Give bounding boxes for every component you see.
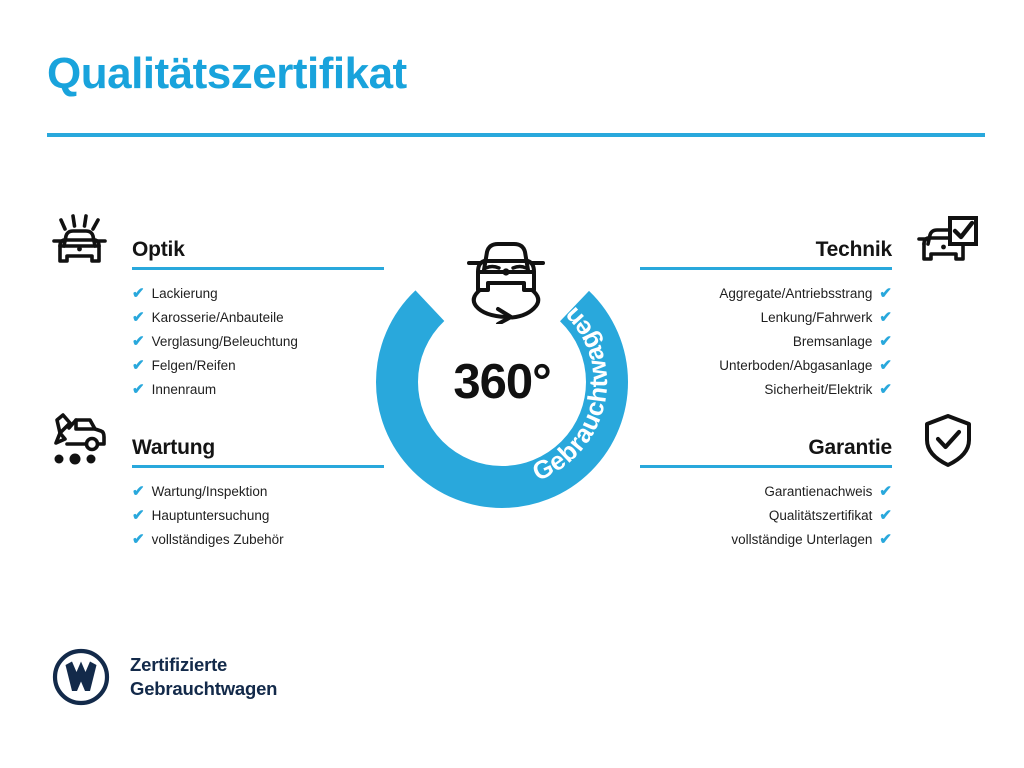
section-wartung-list: ✔Wartung/Inspektion ✔Hauptuntersuchung ✔… (44, 480, 384, 552)
check-icon: ✔ (132, 504, 145, 528)
list-item: ✔vollständiges Zubehör (44, 528, 384, 552)
list-item-label: Aggregate/Antriebsstrang (719, 282, 872, 306)
check-icon: ✔ (132, 330, 145, 354)
list-item-label: Hauptuntersuchung (152, 504, 270, 528)
list-item-label: Unterboden/Abgasanlage (719, 354, 872, 378)
section-garantie-list: Garantienachweis✔ Qualitätszertifikat✔ v… (640, 480, 984, 552)
list-item-label: Garantienachweis (764, 480, 872, 504)
check-icon: ✔ (879, 378, 892, 402)
section-technik-title: Technik (816, 238, 892, 262)
list-item: Bremsanlage✔ (640, 330, 984, 354)
check-icon: ✔ (132, 528, 145, 552)
section-wartung-header: Wartung (44, 406, 384, 468)
section-optik: Optik ✔Lackierung ✔Karosserie/Anbauteile… (44, 208, 384, 402)
check-icon: ✔ (879, 306, 892, 330)
section-optik-title: Optik (132, 238, 185, 262)
section-garantie-header: Garantie (640, 406, 984, 468)
section-optik-header: Optik (44, 208, 384, 270)
title-divider (47, 133, 985, 137)
section-wartung-title: Wartung (132, 436, 215, 460)
list-item: Aggregate/Antriebsstrang✔ (640, 282, 984, 306)
list-item: Sicherheit/Elektrik✔ (640, 378, 984, 402)
section-technik-header: Technik (640, 208, 984, 270)
list-item: Qualitätszertifikat✔ (640, 504, 984, 528)
section-garantie-title: Garantie (808, 436, 892, 460)
list-item-label: Karosserie/Anbauteile (152, 306, 284, 330)
check-icon: ✔ (879, 282, 892, 306)
section-optik-list: ✔Lackierung ✔Karosserie/Anbauteile ✔Verg… (44, 282, 384, 402)
list-item: ✔Felgen/Reifen (44, 354, 384, 378)
footer-line-2: Gebrauchtwagen (130, 677, 277, 701)
list-item-label: Bremsanlage (793, 330, 873, 354)
list-item-label: Verglasung/Beleuchtung (152, 330, 298, 354)
list-item: ✔Verglasung/Beleuchtung (44, 330, 384, 354)
list-item-label: Lackierung (152, 282, 218, 306)
section-garantie: Garantie Garantienachweis✔ Qualitätszert… (640, 406, 984, 552)
list-item-label: Felgen/Reifen (152, 354, 236, 378)
list-item: ✔Innenraum (44, 378, 384, 402)
footer-line-1: Zertifizierte (130, 653, 277, 677)
list-item: ✔Lackierung (44, 282, 384, 306)
badge-360-check: Gebrauchtwagen-Check 360° (376, 232, 652, 508)
section-wartung-divider (132, 465, 384, 468)
section-wartung: Wartung ✔Wartung/Inspektion ✔Hauptunters… (44, 406, 384, 552)
list-item: Lenkung/Fahrwerk✔ (640, 306, 984, 330)
check-icon: ✔ (879, 528, 892, 552)
footer-brand: Zertifizierte Gebrauchtwagen (52, 648, 277, 706)
car-shine-icon (46, 214, 110, 272)
list-item: ✔Wartung/Inspektion (44, 480, 384, 504)
section-optik-divider (132, 267, 384, 270)
vw-logo (52, 648, 110, 706)
list-item: vollständige Unterlagen✔ (640, 528, 984, 552)
check-icon: ✔ (879, 480, 892, 504)
list-item-label: Innenraum (152, 378, 217, 402)
check-icon: ✔ (132, 282, 145, 306)
check-icon: ✔ (132, 354, 145, 378)
list-item: Unterboden/Abgasanlage✔ (640, 354, 984, 378)
car-service-dipstick-icon (46, 412, 110, 470)
section-technik-divider (640, 267, 892, 270)
check-icon: ✔ (879, 330, 892, 354)
section-technik: Technik Aggregate/Antriebsstrang✔ Lenkun… (640, 208, 984, 402)
check-icon: ✔ (879, 354, 892, 378)
page-title: Qualitätszertifikat (47, 50, 407, 98)
list-item: ✔Hauptuntersuchung (44, 504, 384, 528)
check-icon: ✔ (879, 504, 892, 528)
list-item: Garantienachweis✔ (640, 480, 984, 504)
shield-check-icon (916, 412, 980, 470)
footer-brand-text: Zertifizierte Gebrauchtwagen (130, 653, 277, 700)
list-item-label: vollständige Unterlagen (731, 528, 872, 552)
car-rotate-icon (454, 228, 558, 324)
check-icon: ✔ (132, 306, 145, 330)
list-item-label: Qualitätszertifikat (769, 504, 873, 528)
list-item: ✔Karosserie/Anbauteile (44, 306, 384, 330)
check-icon: ✔ (132, 378, 145, 402)
section-garantie-divider (640, 465, 892, 468)
check-icon: ✔ (132, 480, 145, 504)
list-item-label: vollständiges Zubehör (152, 528, 284, 552)
list-item-label: Lenkung/Fahrwerk (761, 306, 873, 330)
list-item-label: Sicherheit/Elektrik (764, 378, 872, 402)
list-item-label: Wartung/Inspektion (152, 480, 268, 504)
car-checkbox-icon (916, 214, 980, 272)
section-technik-list: Aggregate/Antriebsstrang✔ Lenkung/Fahrwe… (640, 282, 984, 402)
